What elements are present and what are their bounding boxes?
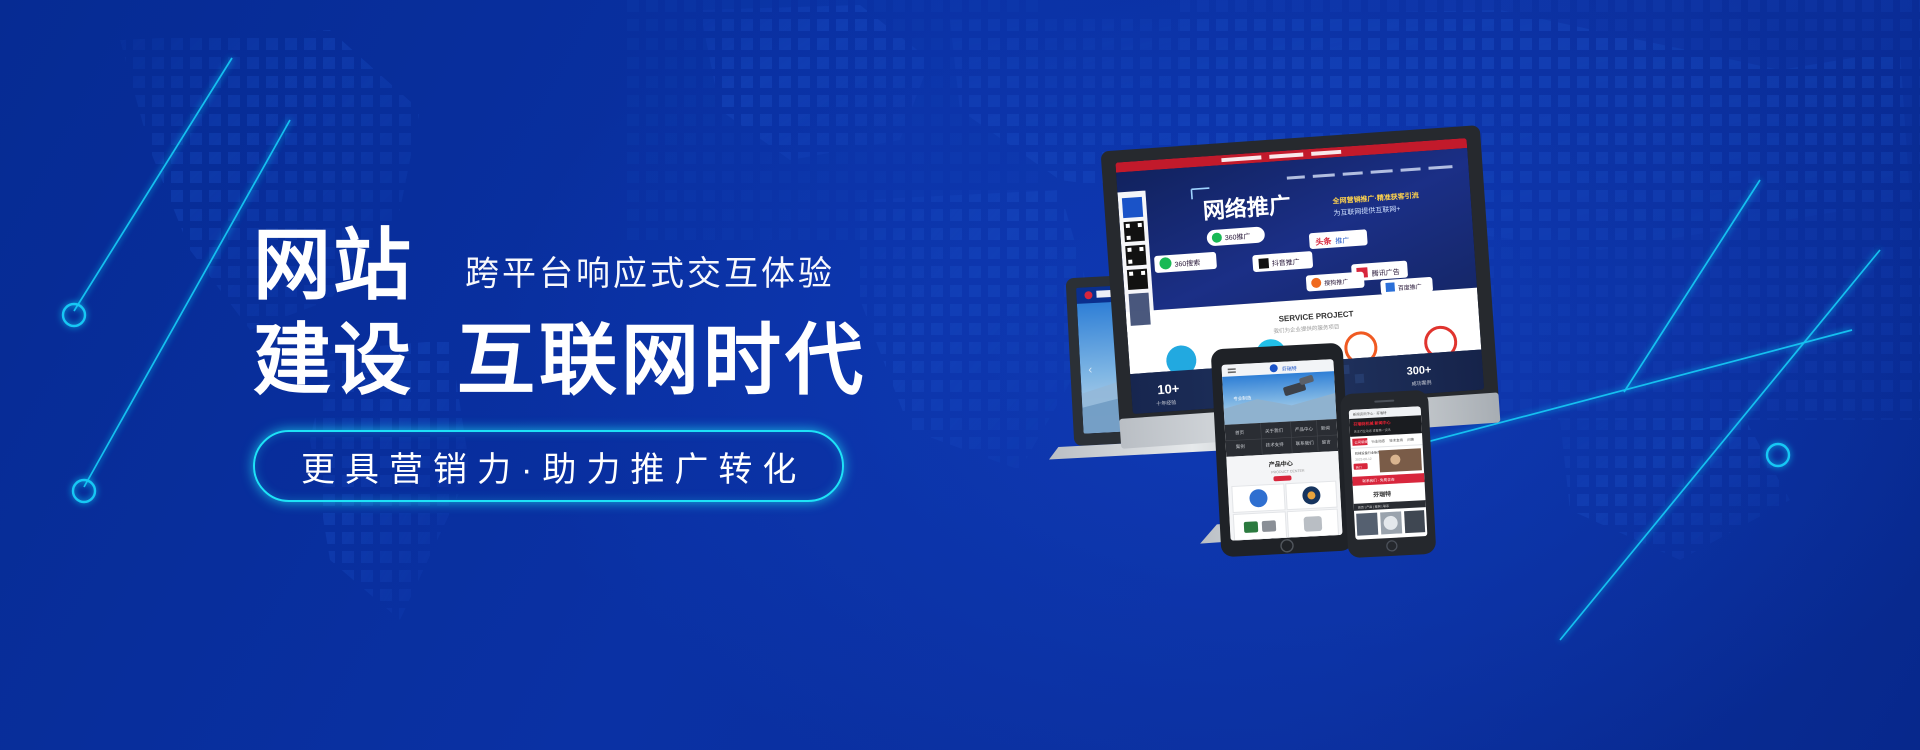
svg-text:10+: 10+ (1157, 381, 1180, 398)
headline-row-2: 建设 互联网时代 (253, 316, 873, 404)
svg-text:问答: 问答 (1407, 437, 1415, 442)
headline-primary-line1: 网站 (253, 222, 413, 308)
headline-subtitle: 跨平台响应式交互体验 (465, 254, 835, 294)
decor-node-circle (63, 304, 85, 326)
hero-copy: 网站 跨平台响应式交互体验 建设 互联网时代 更具营销力·助力推广转化 (253, 222, 873, 502)
decor-node-circle (73, 480, 95, 502)
headline-accent-line2: 互联网时代 (457, 316, 867, 404)
tablet-device: 芬瑞特 专业制造 首页关于我们 产品中心新闻 (1211, 343, 1354, 558)
tagline-text: 更具营销力·助力推广转化 (291, 442, 806, 491)
device-mockup-cluster: 芬瑞 ‹ (1080, 120, 1840, 630)
svg-text:十年经验: 十年经验 (1156, 399, 1176, 407)
svg-text:芬瑞特: 芬瑞特 (1282, 365, 1297, 373)
svg-text:公司新闻: 公司新闻 (1354, 439, 1368, 445)
headline-primary-line2: 建设 (253, 316, 413, 404)
svg-text:300+: 300+ (1406, 364, 1432, 378)
svg-text:热门: 热门 (1356, 464, 1362, 469)
svg-text:‹: ‹ (1088, 362, 1093, 376)
svg-text:头条: 头条 (1315, 236, 1333, 247)
svg-text:行业动态: 行业动态 (1371, 438, 1385, 444)
tagline-pill: 更具营销力·助力推广转化 (253, 430, 844, 502)
headline-row-1: 网站 跨平台响应式交互体验 (253, 222, 873, 308)
phone-device: 新闻资讯中心 · 芬瑞特 芬瑞特机械 新闻中心 关注行业动态 掌握第一资讯 公司… (1340, 390, 1436, 558)
hero-banner: 网站 跨平台响应式交互体验 建设 互联网时代 更具营销力·助力推广转化 (0, 0, 1920, 750)
svg-text:技术支持: 技术支持 (1389, 437, 1403, 443)
svg-text:成功案例: 成功案例 (1411, 379, 1431, 387)
